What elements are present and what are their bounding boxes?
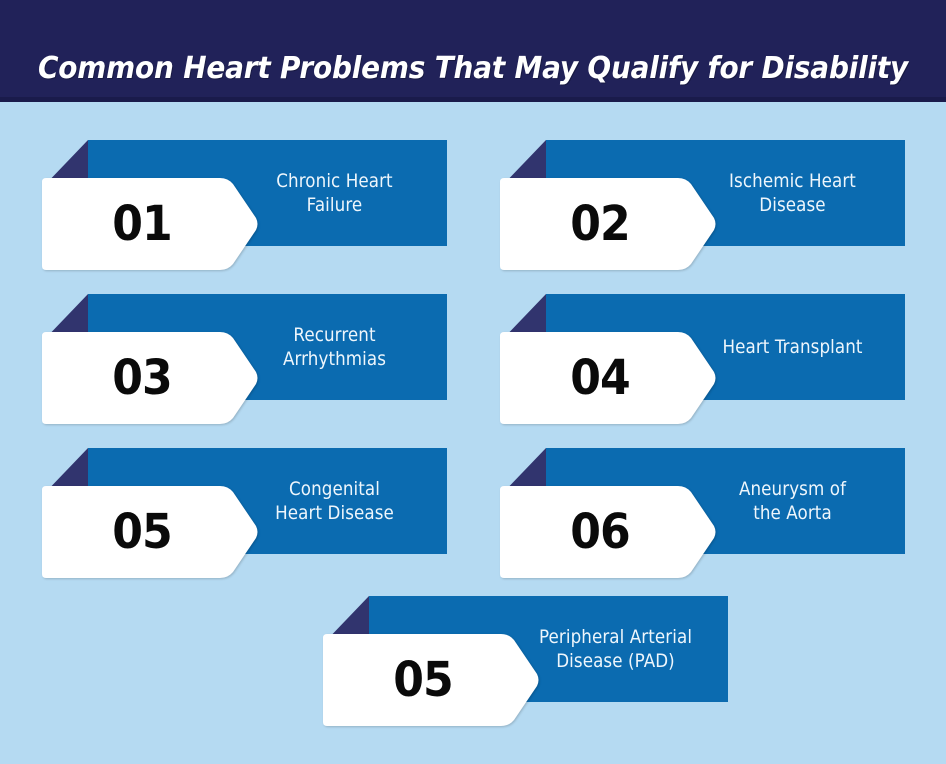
- card-label: RecurrentArrhythmias: [236, 294, 434, 400]
- card-label-text: Ischemic HeartDisease: [729, 169, 856, 218]
- card-label-text: Heart Transplant: [722, 335, 862, 359]
- card-item[interactable]: Aneurysm ofthe Aorta 06: [500, 448, 905, 590]
- card-number: 05: [49, 486, 213, 578]
- card-item[interactable]: CongenitalHeart Disease 05: [42, 448, 447, 590]
- card-item[interactable]: Chronic HeartFailure 01: [42, 140, 447, 282]
- card-label: Heart Transplant: [694, 294, 892, 400]
- card-label: Ischemic HeartDisease: [694, 140, 892, 246]
- card-number: 04: [507, 332, 671, 424]
- card-label-text: Peripheral ArterialDisease (PAD): [539, 625, 692, 674]
- card-label: Aneurysm ofthe Aorta: [694, 448, 892, 554]
- card-item[interactable]: Heart Transplant 04: [500, 294, 905, 436]
- card-number: 02: [507, 178, 671, 270]
- card-label-text: RecurrentArrhythmias: [283, 323, 386, 372]
- card-label: Chronic HeartFailure: [236, 140, 434, 246]
- card-item[interactable]: RecurrentArrhythmias 03: [42, 294, 447, 436]
- card-number: 03: [49, 332, 213, 424]
- card-label: CongenitalHeart Disease: [236, 448, 434, 554]
- card-number: 06: [507, 486, 671, 578]
- card-item[interactable]: Peripheral ArterialDisease (PAD) 05: [323, 596, 728, 738]
- card-number: 05: [330, 634, 494, 726]
- card-label-text: Chronic HeartFailure: [276, 169, 392, 218]
- card-label-text: Aneurysm ofthe Aorta: [739, 477, 846, 526]
- card-label: Peripheral ArterialDisease (PAD): [517, 596, 715, 702]
- card-label-text: CongenitalHeart Disease: [275, 477, 394, 526]
- page-title: Common Heart Problems That May Qualify f…: [33, 20, 913, 117]
- card-number: 01: [49, 178, 213, 270]
- card-item[interactable]: Ischemic HeartDisease 02: [500, 140, 905, 282]
